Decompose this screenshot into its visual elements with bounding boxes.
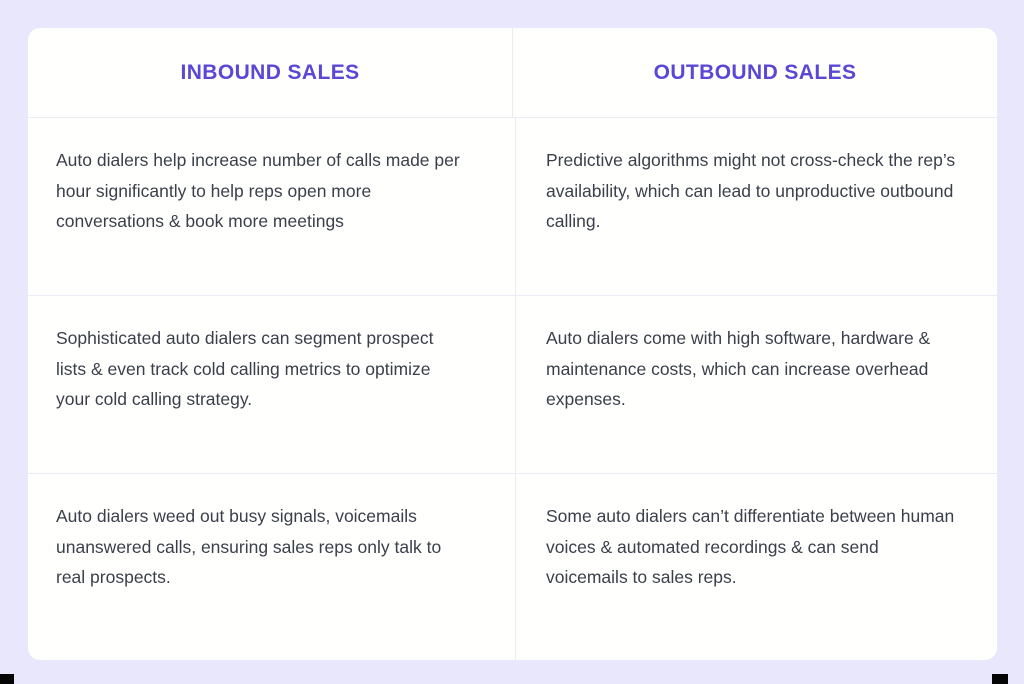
column-header-outbound-sales-label: OUTBOUND SALES bbox=[654, 61, 857, 85]
table-row: Sophisticated auto dialers can segment p… bbox=[28, 296, 997, 474]
cell-inbound-row-2-text: Sophisticated auto dialers can segment p… bbox=[56, 323, 467, 415]
cell-inbound-row-3: Auto dialers weed out busy signals, voic… bbox=[28, 474, 515, 660]
table-header-row: INBOUND SALES OUTBOUND SALES bbox=[28, 28, 997, 118]
table-row: Auto dialers help increase number of cal… bbox=[28, 118, 997, 296]
capture-artifact-bottom-right bbox=[992, 674, 1008, 684]
cell-inbound-row-1: Auto dialers help increase number of cal… bbox=[28, 118, 515, 295]
cell-outbound-row-3-text: Some auto dialers can’t differentiate be… bbox=[546, 501, 957, 593]
cell-outbound-row-1-text: Predictive algorithms might not cross-ch… bbox=[546, 145, 957, 237]
column-header-inbound-sales-label: INBOUND SALES bbox=[180, 61, 359, 85]
comparison-table-card: INBOUND SALES OUTBOUND SALES Auto dialer… bbox=[28, 28, 997, 660]
cell-outbound-row-2: Auto dialers come with high software, ha… bbox=[515, 296, 997, 473]
column-header-outbound-sales: OUTBOUND SALES bbox=[512, 28, 997, 117]
cell-inbound-row-3-text: Auto dialers weed out busy signals, voic… bbox=[56, 501, 467, 593]
cell-inbound-row-1-text: Auto dialers help increase number of cal… bbox=[56, 145, 467, 237]
cell-outbound-row-2-text: Auto dialers come with high software, ha… bbox=[546, 323, 957, 415]
column-header-inbound-sales: INBOUND SALES bbox=[28, 28, 512, 117]
cell-outbound-row-3: Some auto dialers can’t differentiate be… bbox=[515, 474, 997, 660]
cell-inbound-row-2: Sophisticated auto dialers can segment p… bbox=[28, 296, 515, 473]
table-row: Auto dialers weed out busy signals, voic… bbox=[28, 474, 997, 660]
cell-outbound-row-1: Predictive algorithms might not cross-ch… bbox=[515, 118, 997, 295]
capture-artifact-bottom-left bbox=[0, 674, 14, 684]
